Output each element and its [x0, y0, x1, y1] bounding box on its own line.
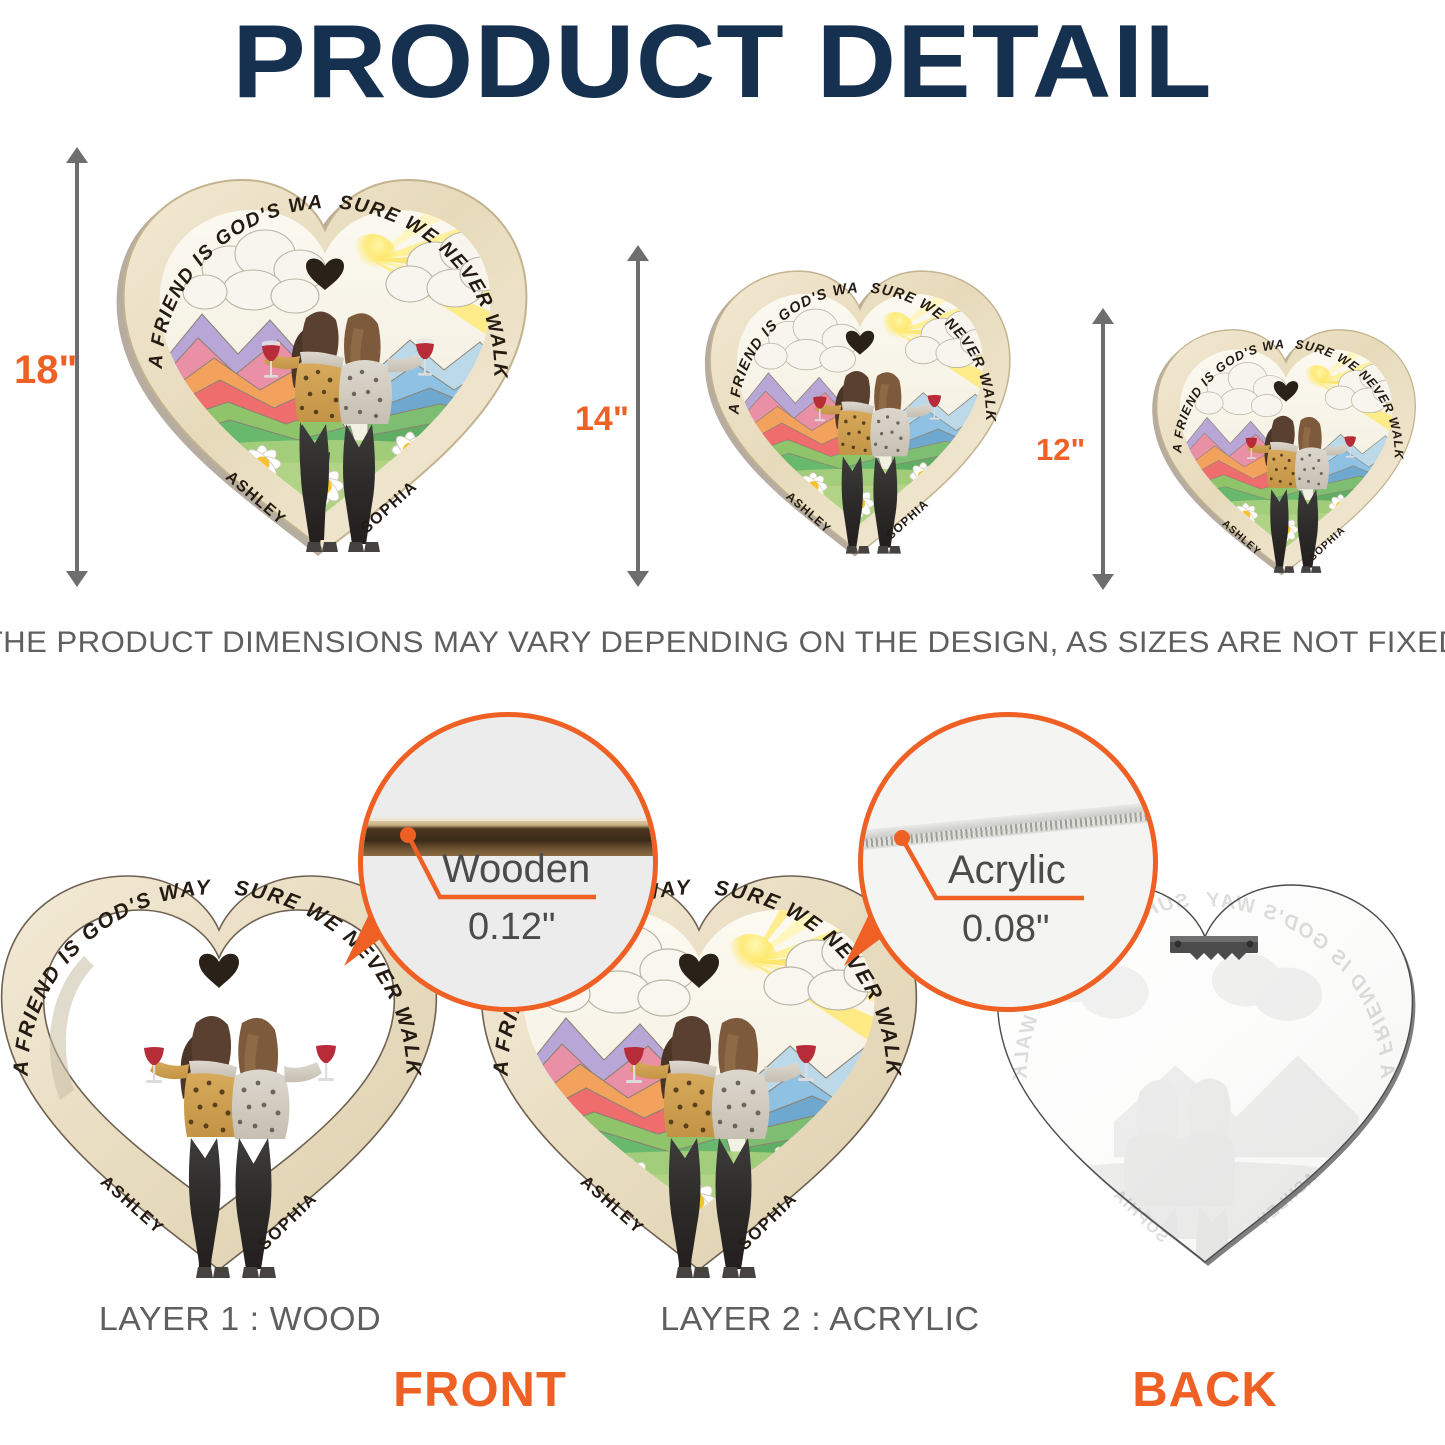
heart-artwork-14in: A FRIEND IS GOD'S WAY OF MAKING SURE WE …	[700, 262, 1020, 562]
front-view-label: FRONT	[280, 1362, 680, 1418]
arrowhead-down-icon	[1092, 574, 1114, 590]
product-heart-18in: A FRIEND IS GOD'S WAY OF MAKING SURE WE …	[110, 168, 540, 563]
arrow-shaft	[636, 256, 640, 576]
callout-wooden: Wooden 0.12"	[358, 712, 648, 1002]
product-heart-14in: A FRIEND IS GOD'S WAY OF MAKING SURE WE …	[700, 262, 1020, 562]
dimension-label-12in: 12"	[1036, 432, 1085, 468]
layer2-caption: LAYER 2 : ACRYLIC	[614, 1300, 1026, 1338]
callout-acrylic: Acrylic 0.08"	[858, 712, 1148, 1002]
dimension-label-18in: 18"	[14, 348, 77, 393]
page-title: PRODUCT DETAIL	[0, 8, 1445, 117]
arrowhead-down-icon	[66, 571, 88, 587]
arrowhead-down-icon	[627, 571, 649, 587]
callout-thickness-wooden: 0.12"	[468, 906, 555, 949]
product-heart-12in: A FRIEND IS GOD'S WAY OF MAKING SURE WE …	[1148, 322, 1424, 580]
layer1-caption: LAYER 1 : WOOD	[34, 1300, 446, 1338]
heart-artwork-18in: A FRIEND IS GOD'S WAY OF MAKING SURE WE …	[110, 168, 540, 563]
heart-artwork-12in: A FRIEND IS GOD'S WAY OF MAKING SURE WE …	[1148, 322, 1424, 580]
back-view-label: BACK	[1005, 1362, 1405, 1418]
leopard-jacket-right	[339, 360, 392, 424]
callout-material-acrylic: Acrylic	[948, 848, 1066, 893]
product-detail-infographic: PRODUCT DETAIL 18"	[0, 0, 1445, 1445]
callout-material-wooden: Wooden	[442, 847, 590, 892]
wine-glass-right	[316, 1045, 336, 1081]
leopard-jacket-left	[184, 1068, 240, 1138]
dimension-label-14in: 14"	[575, 400, 629, 439]
arrow-shaft	[1101, 319, 1105, 579]
dimensions-disclaimer: THE PRODUCT DIMENSIONS MAY VARY DEPENDIN…	[0, 626, 1445, 660]
leopard-jacket-right	[232, 1070, 290, 1140]
leopard-jacket-left	[295, 358, 346, 422]
callout-thickness-acrylic: 0.08"	[962, 908, 1049, 951]
dimension-arrow-12in	[1092, 308, 1114, 590]
dimension-arrow-14in	[627, 245, 649, 587]
